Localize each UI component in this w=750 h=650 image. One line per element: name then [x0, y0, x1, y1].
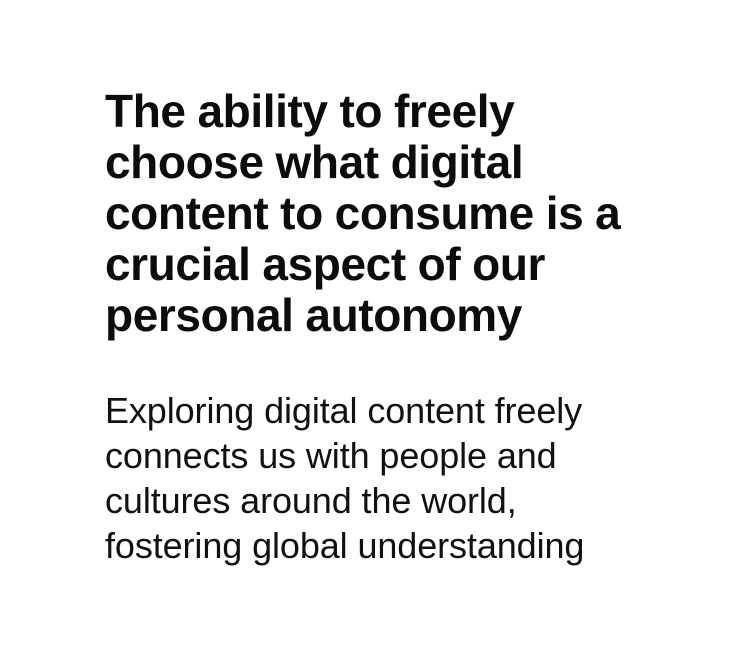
- subtitle-paragraph: Exploring digital content freely connect…: [105, 388, 625, 568]
- slide-canvas: The ability to freely choose what digita…: [0, 0, 750, 650]
- page-title: The ability to freely choose what digita…: [105, 86, 653, 341]
